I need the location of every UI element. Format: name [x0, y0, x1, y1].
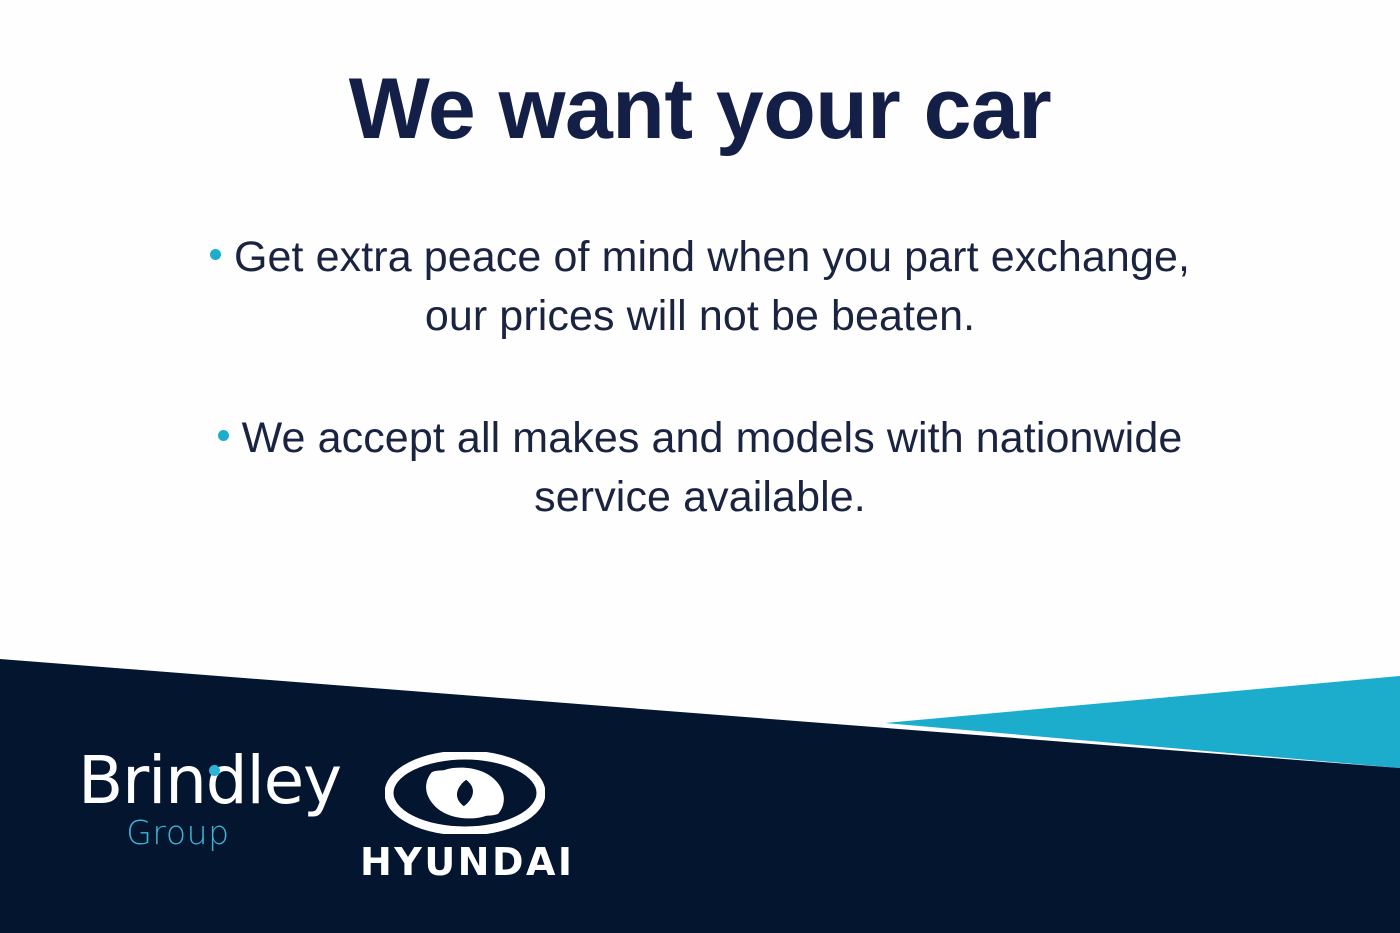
hyundai-logo: HYUNDAI [360, 752, 570, 881]
brindley-wordmark: Brindley [78, 748, 340, 814]
page-title: We want your car [0, 64, 1400, 154]
list-item-label: We accept all makes and models with nati… [242, 414, 1183, 521]
brindley-dot-icon [209, 765, 220, 776]
bullet-dot-icon [218, 430, 229, 441]
hyundai-wordmark: HYUNDAI [360, 843, 570, 881]
cyan-wedge-shape [885, 676, 1400, 768]
brindley-subtitle: Group [78, 816, 340, 849]
bullet-dot-icon [210, 249, 221, 260]
benefits-list: Get extra peace of mind when you part ex… [180, 228, 1220, 527]
list-item: Get extra peace of mind when you part ex… [180, 228, 1220, 347]
promo-card: We want your car Get extra peace of mind… [0, 0, 1400, 933]
hyundai-emblem-icon [385, 752, 545, 834]
list-item-label: Get extra peace of mind when you part ex… [234, 233, 1190, 340]
list-item: We accept all makes and models with nati… [180, 409, 1220, 528]
brindley-group-logo: Brindley Group [78, 748, 340, 849]
logo-row: Brindley Group HYUNDAI [78, 748, 570, 881]
